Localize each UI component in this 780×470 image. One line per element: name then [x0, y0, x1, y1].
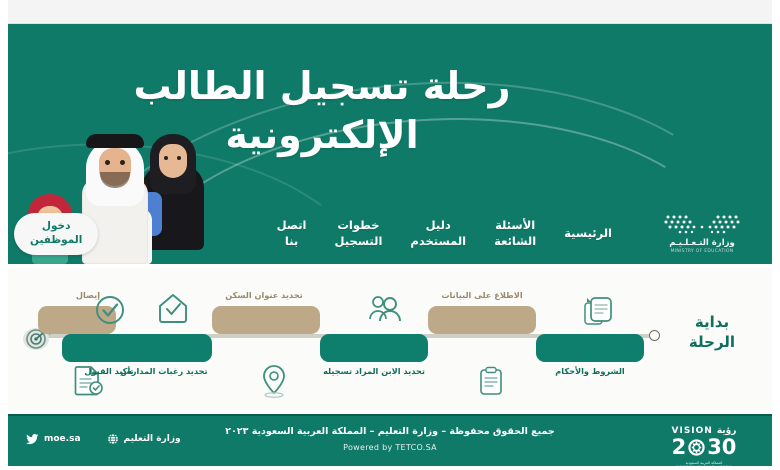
home-check-icon — [156, 292, 190, 324]
clipboard-icon — [476, 366, 506, 396]
segment-select-child[interactable] — [320, 334, 428, 362]
journey-title-line-1: بداية — [666, 312, 758, 332]
dot-matrix-emblem-icon — [658, 214, 746, 236]
step-label-view-data: الاطلاع على البيانات — [430, 290, 534, 301]
nav-item-home[interactable]: الرئيسية — [550, 226, 626, 242]
globe-icon — [107, 433, 119, 445]
nav-item-user-guide-label-1: دليل — [410, 218, 466, 234]
nav-item-user-guide-label-2: المستخدم — [410, 234, 466, 250]
footer-twitter-handle: moe.sa — [44, 434, 81, 444]
bottom-letterbox-bar — [0, 466, 780, 470]
page-root: رحلة تسجيل الطالب الإلكترونية — [0, 0, 780, 470]
documents-icon — [582, 294, 616, 328]
footer-divider — [8, 414, 772, 416]
step-label-terms: الشروط والأحكام — [538, 366, 642, 377]
step-label-confirm-acceptance: تأكيد القبول — [57, 366, 161, 377]
users-icon — [368, 294, 402, 324]
page-footer: جميع الحقوق محفوظة – وزارة التعليم – الم… — [8, 414, 772, 470]
employee-login-label-1: دخول — [30, 220, 82, 234]
location-pin-icon — [258, 364, 290, 398]
employee-login-label-2: الموظفين — [30, 234, 82, 248]
logo-arabic-text: وزارة التـعـلـيـم — [669, 238, 735, 248]
nav-item-contact-us[interactable]: اتصل بنا — [263, 218, 321, 249]
registration-journey-timeline: بداية الرحلة — [8, 268, 772, 410]
nav-item-user-guide[interactable]: دليل المستخدم — [396, 218, 480, 249]
journey-start-title: بداية الرحلة — [666, 312, 758, 353]
vision-2030-logo: VISION رؤية 2 30 — [652, 426, 756, 469]
vision-2030-emblem-icon — [687, 438, 706, 457]
footer-twitter-link[interactable]: moe.sa — [26, 434, 81, 445]
segment-address[interactable] — [212, 306, 320, 334]
footer-website-label: وزارة التعليم — [124, 434, 181, 444]
footer-social-links: moe.sa وزارة التعليم — [26, 433, 181, 445]
segment-terms[interactable] — [536, 334, 644, 362]
nav-item-contact-us-label-1: اتصل — [277, 218, 307, 234]
nav-item-registration-steps-label-1: خطوات — [334, 218, 382, 234]
ministry-of-education-logo[interactable]: وزارة التـعـلـيـم MINISTRY OF EDUCATION — [636, 209, 768, 259]
nav-item-faq-label-1: الأسئلة — [494, 218, 536, 234]
nav-items-list: الرئيسية الأسئلة الشائعة دليل المستخدم خ… — [8, 213, 636, 254]
step-label-select-child: تحديد الابن المراد تسجيله — [322, 366, 426, 377]
vision-wordmark: VISION رؤية — [652, 426, 756, 436]
segment-view-data[interactable] — [428, 306, 536, 334]
nav-item-faq[interactable]: الأسئلة الشائعة — [480, 218, 550, 249]
top-letterbox-bar — [0, 0, 780, 24]
journey-title-line-2: الرحلة — [666, 332, 758, 352]
nav-item-home-label: الرئيسية — [564, 226, 612, 242]
nav-item-registration-steps-label-2: التسجيل — [334, 234, 382, 250]
check-circle-icon — [94, 294, 126, 326]
twitter-icon — [26, 434, 39, 445]
nav-item-contact-us-label-2: بنا — [277, 234, 307, 250]
vision-year-left: 2 — [672, 437, 687, 458]
segment-confirm-acceptance[interactable] — [62, 334, 156, 362]
logo-english-text: MINISTRY OF EDUCATION — [671, 249, 734, 254]
employee-login-button[interactable]: دخول الموظفين — [14, 213, 98, 254]
vision-year-right: 30 — [707, 437, 736, 458]
footer-website-link[interactable]: وزارة التعليم — [107, 433, 181, 445]
nav-item-registration-steps[interactable]: خطوات التسجيل — [320, 218, 396, 249]
step-label-address: تحديد عنوان السكن — [212, 290, 316, 301]
right-letterbox-bar — [772, 0, 780, 470]
nav-item-faq-label-2: الشائعة — [494, 234, 536, 250]
vision-year: 2 30 — [652, 437, 756, 458]
left-letterbox-bar — [0, 0, 8, 470]
timeline-start-node — [649, 330, 660, 341]
main-navigation: وزارة التـعـلـيـم MINISTRY OF EDUCATION … — [8, 204, 772, 264]
